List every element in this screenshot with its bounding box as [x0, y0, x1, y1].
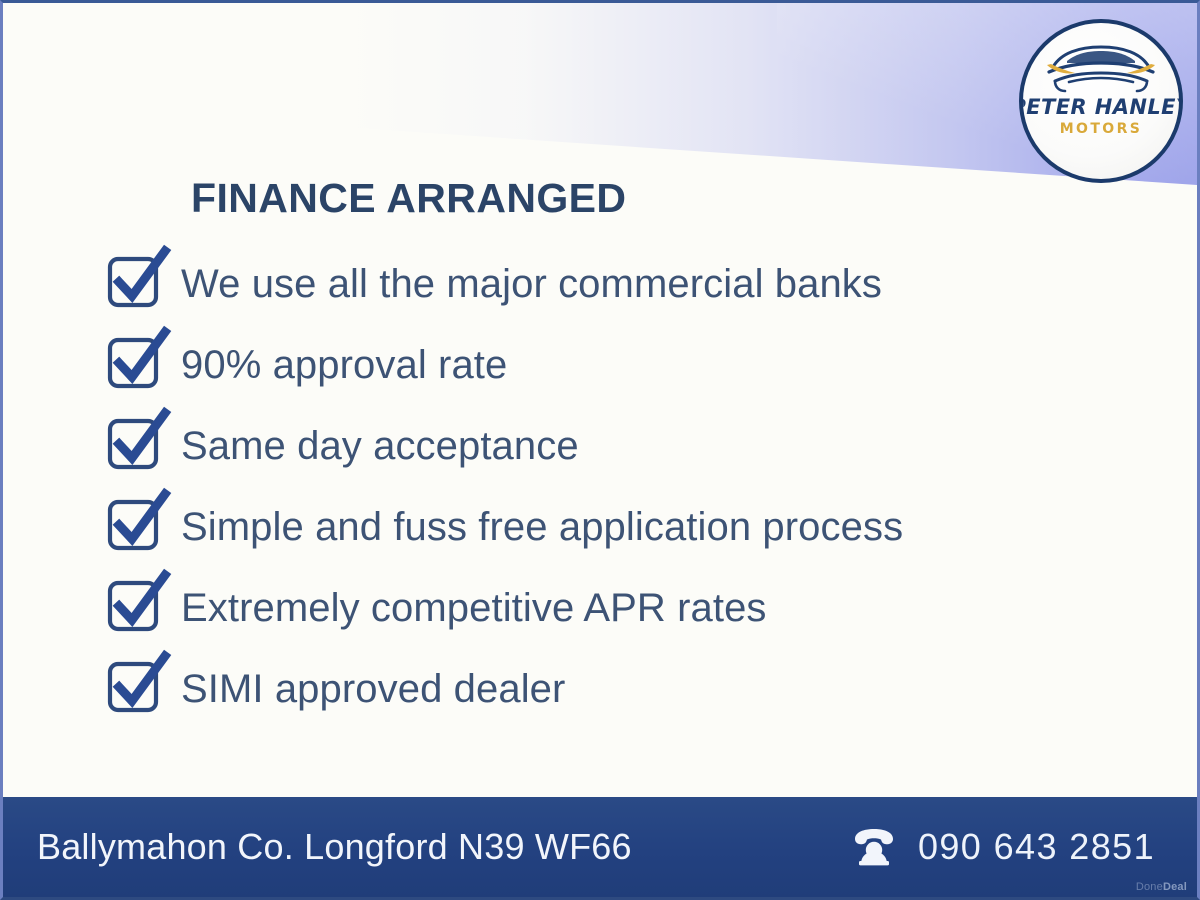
- list-item-label: Simple and fuss free application process: [181, 507, 903, 547]
- checkbox-checked-icon: [107, 336, 165, 394]
- page-title: FINANCE ARRANGED: [191, 175, 626, 222]
- list-item-label: Extremely competitive APR rates: [181, 588, 767, 628]
- telephone-icon: [852, 828, 896, 866]
- list-item: SIMI approved dealer: [107, 648, 1127, 729]
- checkbox-checked-icon: [107, 417, 165, 475]
- list-item-label: SIMI approved dealer: [181, 669, 565, 709]
- footer-bar: Ballymahon Co. Longford N39 WF66 090 643…: [3, 797, 1197, 897]
- logo-subtitle: MOTORS: [1060, 122, 1143, 136]
- address-text: Ballymahon Co. Longford N39 WF66: [37, 826, 632, 868]
- dealer-logo-badge: PETER HANLEY MOTORS: [1019, 19, 1183, 183]
- phone-number: 090 643 2851: [918, 826, 1155, 868]
- list-item: Same day acceptance: [107, 405, 1127, 486]
- list-item: Simple and fuss free application process: [107, 486, 1127, 567]
- watermark: DoneDeal: [1136, 881, 1187, 893]
- advert-canvas: PETER HANLEY MOTORS FINANCE ARRANGED We …: [0, 0, 1200, 900]
- checkbox-checked-icon: [107, 498, 165, 556]
- logo-name: PETER HANLEY: [1019, 97, 1183, 118]
- list-item-label: Same day acceptance: [181, 426, 579, 466]
- feature-list: We use all the major commercial banks 90…: [107, 243, 1127, 729]
- car-front-icon: [1039, 41, 1163, 95]
- phone-block[interactable]: 090 643 2851: [852, 826, 1163, 868]
- checkbox-checked-icon: [107, 579, 165, 637]
- list-item-label: We use all the major commercial banks: [181, 264, 882, 304]
- checkbox-checked-icon: [107, 660, 165, 718]
- list-item: Extremely competitive APR rates: [107, 567, 1127, 648]
- watermark-suffix: Deal: [1163, 881, 1187, 893]
- list-item-label: 90% approval rate: [181, 345, 507, 385]
- watermark-prefix: Done: [1136, 881, 1163, 893]
- list-item: We use all the major commercial banks: [107, 243, 1127, 324]
- checkbox-checked-icon: [107, 255, 165, 313]
- list-item: 90% approval rate: [107, 324, 1127, 405]
